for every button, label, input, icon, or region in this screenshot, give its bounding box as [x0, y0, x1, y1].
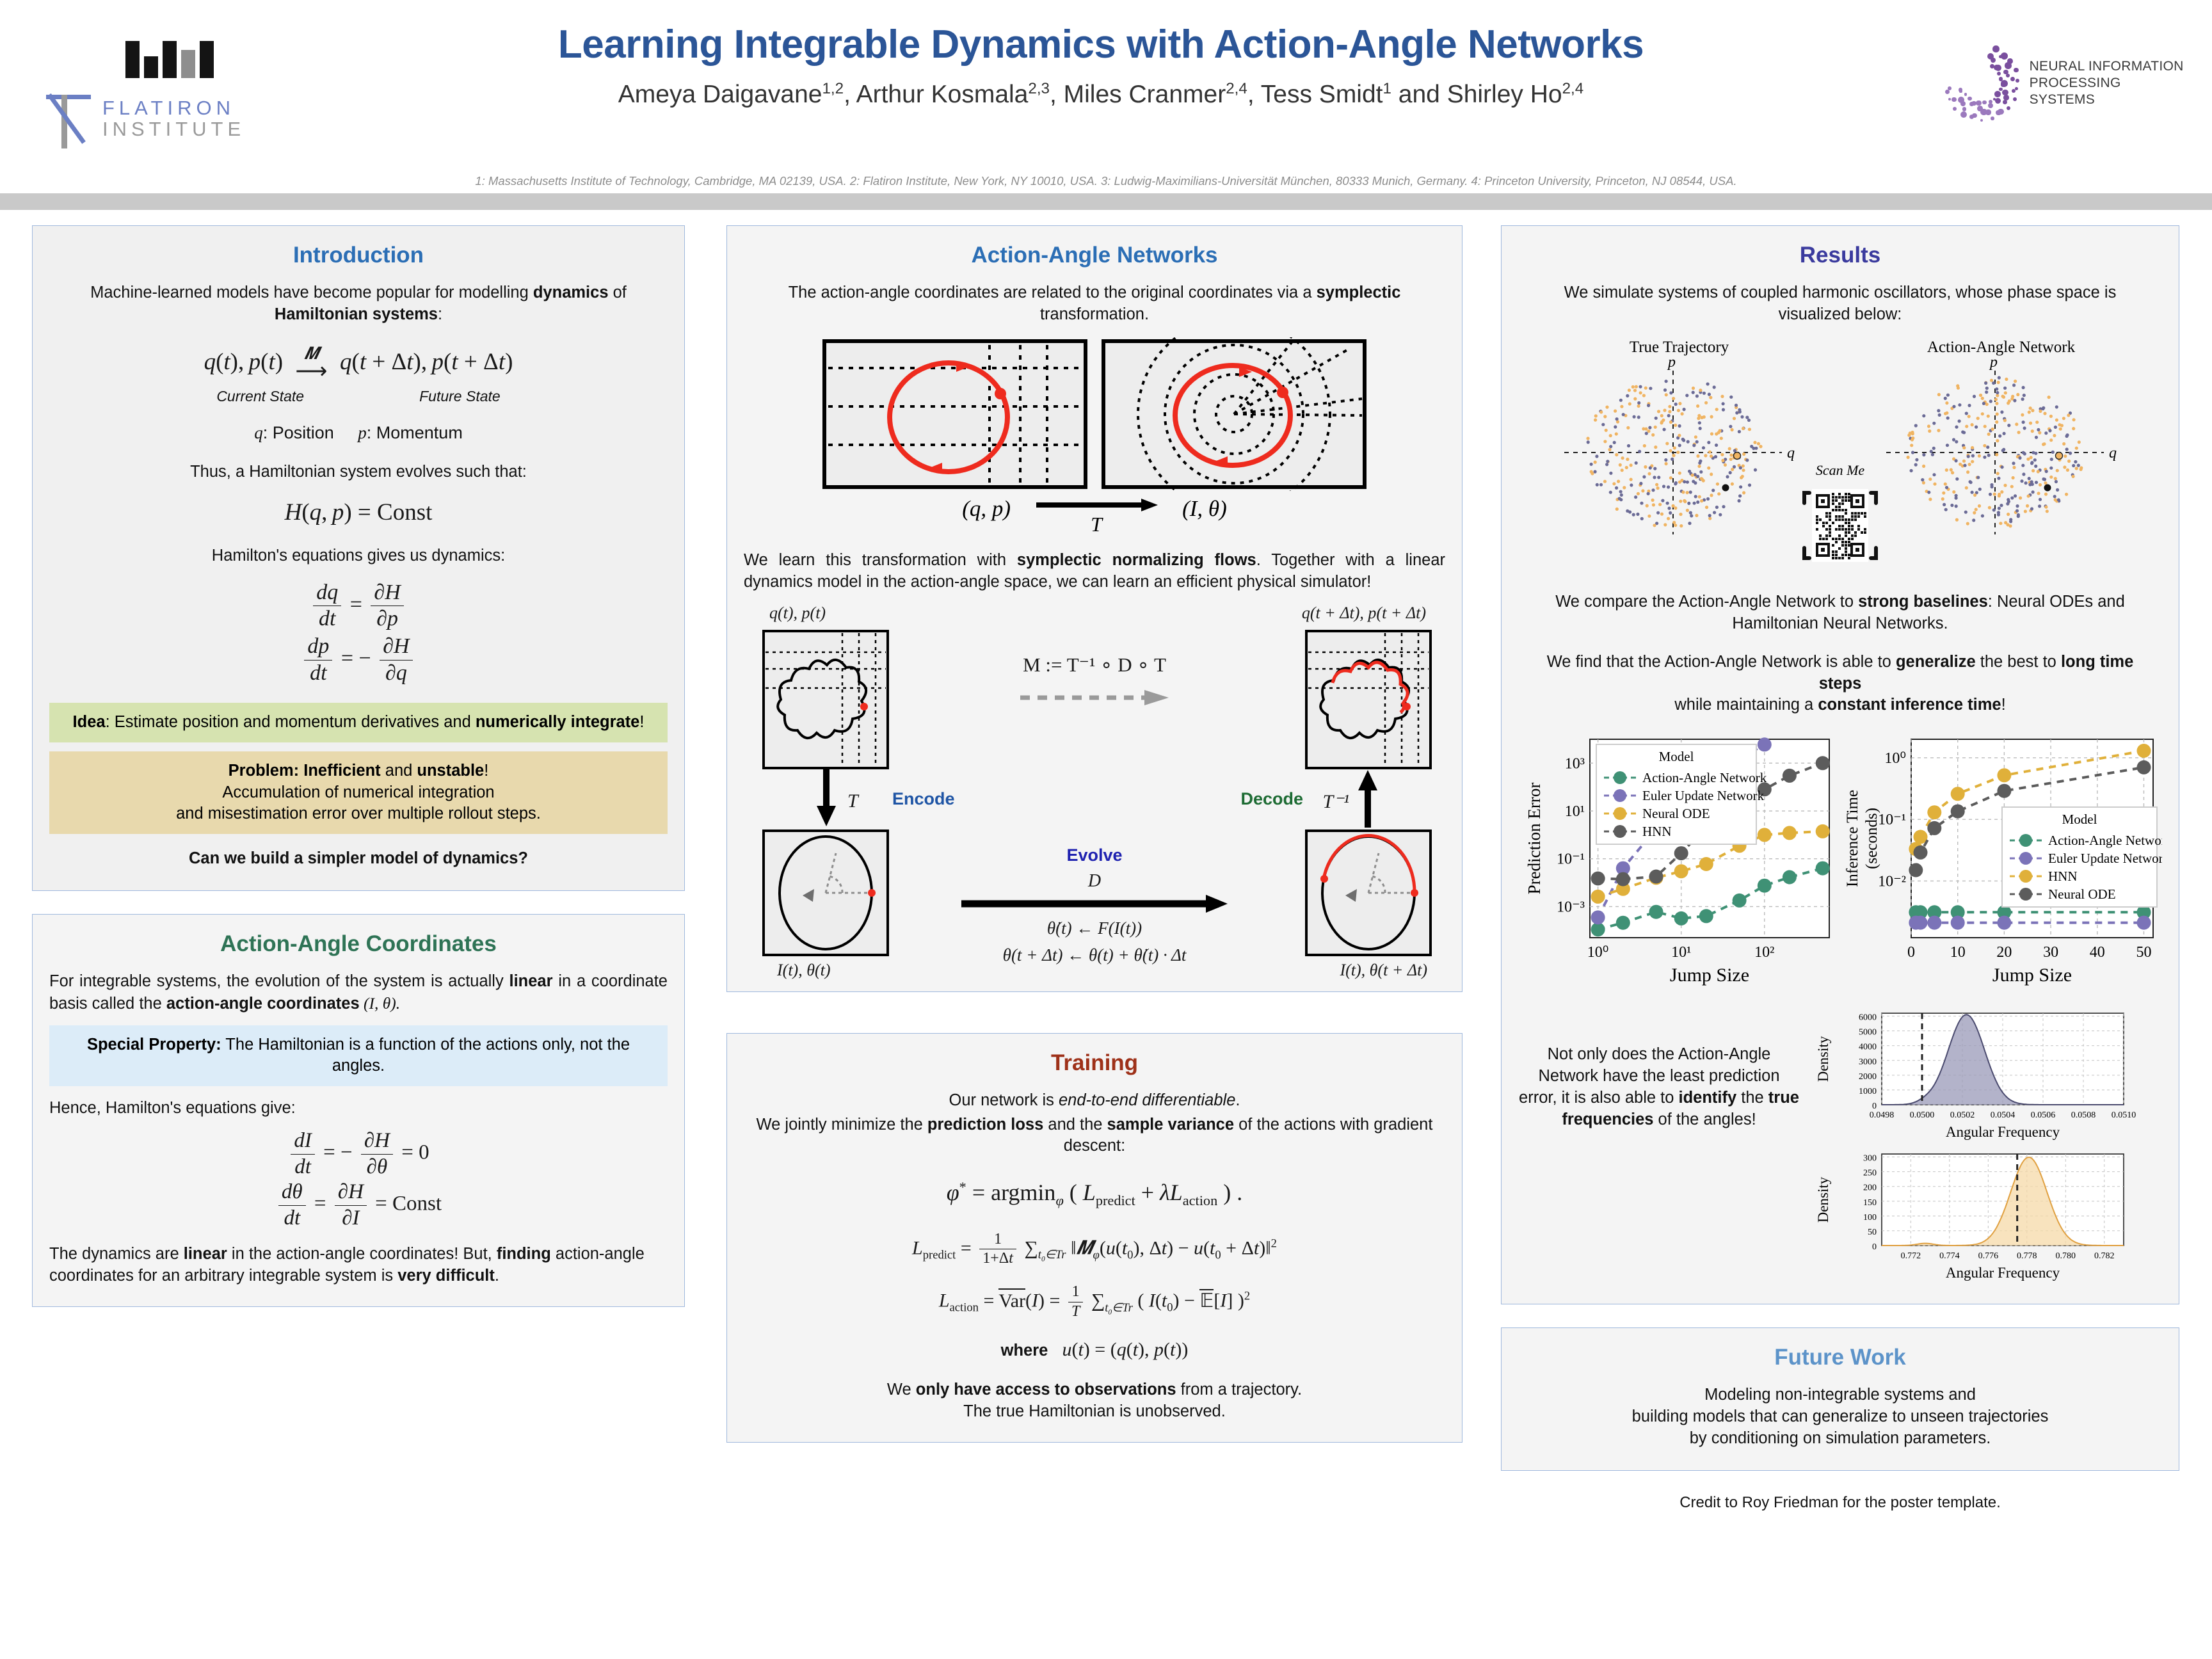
action-angle-panel — [1100, 337, 1368, 491]
svg-text:0.776: 0.776 — [1978, 1251, 1999, 1261]
equation-dI-dt: dIdt = − ∂H∂θ = 0 — [49, 1130, 668, 1178]
svg-text:p: p — [1667, 357, 1676, 371]
equation-objective: φ* = argminφ ( Lpredict + λLaction ) . — [744, 1179, 1445, 1209]
svg-text:10¹: 10¹ — [1565, 803, 1585, 820]
aan-p1-c: transformation. — [1040, 305, 1149, 323]
intro-p1-b: dynamics — [533, 284, 609, 301]
svg-text:5000: 5000 — [1859, 1028, 1877, 1038]
caption-I-theta: (I, θ) — [1182, 496, 1227, 522]
problem-end: ! — [484, 762, 488, 780]
results-p3-c: the best to — [1976, 653, 2061, 671]
header-divider-bar — [0, 193, 2212, 210]
qp-legend: q: Position p: Momentum — [49, 422, 668, 445]
diag-label-encode: Encode — [892, 789, 955, 809]
diag-dashed-arrow — [1018, 688, 1171, 707]
svg-text:0.780: 0.780 — [2056, 1251, 2076, 1261]
svg-text:30: 30 — [2043, 944, 2058, 961]
card-introduction: Introduction Machine-learned models have… — [32, 225, 685, 891]
diag-arrow-decode — [1354, 769, 1381, 828]
card-action-angle-coordinates: Action-Angle Coordinates For integrable … — [32, 914, 685, 1307]
aan-p2-a: We learn this transformation with — [744, 551, 1017, 569]
diag-panel-action-angle-after — [1304, 829, 1432, 957]
idea-label: Idea — [73, 713, 106, 731]
results-paragraph-2: We compare the Action-Angle Network to s… — [1518, 591, 2162, 635]
diag-op-Tinv: T⁻¹ — [1322, 790, 1349, 813]
svg-text:10⁰: 10⁰ — [1884, 750, 1906, 767]
diag-label-top-left: q(t), p(t) — [769, 604, 826, 623]
svg-text:Prediction Error: Prediction Error — [1525, 783, 1544, 895]
qr-code-icon[interactable] — [1802, 479, 1879, 572]
svg-text:300: 300 — [1863, 1154, 1877, 1164]
label-current-state: Current State — [216, 388, 304, 405]
card-results: Results We simulate systems of coupled h… — [1501, 225, 2179, 1304]
aac-p1-e: (I, θ). — [360, 994, 401, 1013]
diag-composition: M := T⁻¹ ∘ D ∘ T — [1023, 653, 1166, 677]
training-p2-b: prediction loss — [927, 1116, 1043, 1134]
equation-hamilton-dq: dqdt = ∂H∂p — [49, 581, 668, 631]
svg-text:100: 100 — [1863, 1213, 1877, 1222]
svg-text:Jump Size: Jump Size — [1992, 965, 2072, 986]
training-p1-c: . — [1235, 1091, 1240, 1109]
results-p3-a: We find that the Action-Angle Network is… — [1547, 653, 1896, 671]
chart-density-fast: 0.7720.7740.7760.7780.7800.7820501001502… — [1806, 1146, 2139, 1284]
svg-text:40: 40 — [2090, 944, 2105, 961]
aan-paragraph-2: We learn this transformation with symple… — [744, 550, 1445, 593]
svg-text:0.0500: 0.0500 — [1910, 1110, 1935, 1120]
affiliations: 1: Massachusetts Institute of Technology… — [0, 174, 2212, 188]
intro-p1-a: Machine-learned models have become popul… — [90, 284, 533, 301]
card-future-work: Future Work Modeling non-integrable syst… — [1501, 1327, 2179, 1471]
equation-loss-action: Laction = Var(I) = 1T ∑t0∈Tr ( I(t0) − 𝔼… — [744, 1284, 1445, 1320]
section-title-introduction: Introduction — [49, 243, 668, 268]
qr-scan-me-label: Scan Me — [1802, 462, 1879, 479]
training-p1-b: end-to-end differentiable — [1059, 1091, 1235, 1109]
training-p1-a: Our network is — [949, 1091, 1058, 1109]
aac-p3-d: finding — [497, 1245, 551, 1263]
section-title-results: Results — [1518, 243, 2162, 268]
svg-text:Jump Size: Jump Size — [1670, 965, 1749, 986]
flatiron-logo-icon: FLATIRON INSTITUTE — [45, 90, 256, 148]
diag-panel-qp-before — [762, 629, 890, 770]
aac-p1-a: For integrable systems, the evolution of… — [49, 972, 509, 990]
poster-header: FLATIRON INSTITUTE Learning Integrable D… — [0, 0, 2212, 192]
card-action-angle-networks: Action-Angle Networks The action-angle c… — [726, 225, 1463, 992]
flatiron-word-2: INSTITUTE — [102, 119, 245, 140]
results-p3-e: while maintaining a — [1674, 696, 1818, 714]
density-charts: 0.04980.05000.05020.05040.05060.05080.05… — [1806, 1006, 2162, 1287]
aac-p3-b: linear — [184, 1245, 227, 1263]
section-title-aa-networks: Action-Angle Networks — [744, 243, 1445, 268]
chart-density-slow: 0.04980.05000.05020.05040.05060.05080.05… — [1806, 1006, 2139, 1143]
svg-text:HNN: HNN — [2048, 869, 2078, 884]
section-title-training: Training — [744, 1050, 1445, 1076]
problem-bold2: unstable — [417, 762, 484, 780]
svg-text:HNN: HNN — [1642, 824, 1672, 839]
intro-p1-e: : — [438, 305, 442, 323]
diag-arrow-evolve — [960, 893, 1229, 915]
svg-text:0.0498: 0.0498 — [1870, 1110, 1895, 1120]
svg-text:2000: 2000 — [1859, 1072, 1877, 1082]
svg-text:150: 150 — [1863, 1198, 1877, 1208]
poster-credit: Credit to Roy Friedman for the poster te… — [1501, 1494, 2179, 1512]
problem-line3: and misestimation error over multiple ro… — [176, 805, 541, 822]
left-logos: FLATIRON INSTITUTE — [45, 38, 256, 148]
results-p4-e: of the angles! — [1653, 1110, 1756, 1128]
performance-charts: 10⁰10¹10²10⁻³10⁻¹10¹10³Jump SizePredicti… — [1518, 730, 2162, 986]
results-paragraph-3: We find that the Action-Angle Network is… — [1518, 652, 2162, 717]
svg-text:0.772: 0.772 — [1901, 1251, 1921, 1261]
phase-plot-true-title: True Trajectory — [1551, 339, 1807, 357]
svg-text:6000: 6000 — [1859, 1013, 1877, 1023]
aac-paragraph-3: The dynamics are linear in the action-an… — [49, 1244, 668, 1287]
training-p2-c: and the — [1043, 1116, 1107, 1134]
svg-text:Action-Angle Network: Action-Angle Network — [2048, 833, 2162, 848]
aac-paragraph-1: For integrable systems, the evolution of… — [49, 971, 668, 1015]
svg-text:Neural ODE: Neural ODE — [1642, 806, 1710, 821]
state-labels: Current State Future State — [49, 388, 668, 405]
aac-p3-g: . — [495, 1267, 499, 1285]
aan-p2-b: symplectic normalizing flows — [1017, 551, 1256, 569]
diag-panel-qp-after — [1304, 629, 1432, 770]
diag-label-top-right: q(t + Δt), p(t + Δt) — [1302, 604, 1426, 623]
diag-label-evolve: Evolve — [1066, 846, 1122, 865]
svg-text:0: 0 — [1872, 1242, 1877, 1252]
svg-text:200: 200 — [1863, 1183, 1877, 1193]
training-closing-b: only have access to observations — [916, 1381, 1176, 1399]
card-training: Training Our network is end-to-end diffe… — [726, 1033, 1463, 1443]
section-title-future-work: Future Work — [1518, 1345, 2162, 1370]
label-future-state: Future State — [419, 388, 501, 405]
svg-text:3000: 3000 — [1859, 1057, 1877, 1067]
training-paragraph-2: We jointly minimize the prediction loss … — [744, 1114, 1445, 1158]
diag-panel-action-angle-before — [762, 829, 890, 957]
svg-text:1000: 1000 — [1859, 1087, 1877, 1096]
aac-p3-c: in the action-angle coordinates! But, — [227, 1245, 497, 1263]
future-work-text: Modeling non-integrable systems and buil… — [1518, 1384, 2162, 1450]
future-work-line2: building models that can generalize to u… — [1632, 1407, 2049, 1425]
equation-map: q(t), p(t) 𝑴 ⟶ q(t + Δt), p(t + Δt) — [49, 344, 668, 384]
idea-end: ! — [639, 713, 644, 731]
svg-text:Inference Time: Inference Time — [1844, 790, 1861, 887]
aan-paragraph-1: The action-angle coordinates are related… — [744, 282, 1445, 326]
aac-p3-f: very difficult — [397, 1267, 495, 1285]
problem-mid: and — [381, 762, 417, 780]
idea-bold: numerically integrate — [476, 713, 640, 731]
svg-text:Euler Update Network: Euler Update Network — [2048, 851, 2162, 866]
results-p3-g: ! — [2001, 696, 2006, 714]
transform-arrow: T — [1032, 496, 1160, 521]
diag-label-bottom-right: I(t), θ(t + Δt) — [1340, 961, 1427, 980]
svg-text:50: 50 — [2136, 944, 2151, 961]
intro-paragraph-1: Machine-learned models have become popul… — [49, 282, 668, 326]
svg-text:20: 20 — [1996, 944, 2012, 961]
results-p4-c: the — [1736, 1089, 1768, 1107]
equation-dtheta-dt: dθdt = ∂H∂I = Const — [49, 1181, 668, 1230]
svg-text:0.0502: 0.0502 — [1950, 1110, 1975, 1120]
neurips-swirl-icon — [1937, 35, 2024, 131]
frequency-identification-block: Not only does the Action-Angle Network h… — [1518, 1006, 2162, 1287]
diag-op-T: T — [847, 790, 858, 812]
svg-text:Angular Frequency: Angular Frequency — [1946, 1124, 2060, 1140]
svg-text:Action-Angle Network: Action-Angle Network — [1642, 770, 1767, 785]
svg-text:10: 10 — [1950, 944, 1966, 961]
svg-text:Density: Density — [1815, 1177, 1831, 1223]
svg-text:0: 0 — [1907, 944, 1915, 961]
qp-phase-panel — [821, 337, 1089, 491]
svg-text:10⁻¹: 10⁻¹ — [1557, 851, 1585, 868]
neurips-line-1: NEURAL INFORMATION — [2030, 58, 2186, 75]
training-paragraph-1: Our network is end-to-end differentiable… — [744, 1090, 1445, 1112]
flatiron-word-1: FLATIRON — [102, 98, 245, 119]
qr-block[interactable]: Scan Me — [1518, 462, 2162, 575]
neurips-wordmark: NEURAL INFORMATION PROCESSING SYSTEMS — [2030, 58, 2186, 109]
svg-text:0.782: 0.782 — [2094, 1251, 2115, 1261]
training-closing-c: from a trajectory. — [1176, 1381, 1302, 1399]
section-title-aa-coords: Action-Angle Coordinates — [49, 931, 668, 957]
svg-text:0.778: 0.778 — [2017, 1251, 2037, 1261]
encode-evolve-decode-diagram: q(t), p(t) q(t + Δt), p(t + Δt) — [744, 604, 1445, 975]
results-p2-b: strong baselines — [1858, 593, 1988, 611]
svg-text:(seconds): (seconds) — [1863, 808, 1880, 869]
svg-text:Euler Update Network: Euler Update Network — [1642, 788, 1765, 803]
intro-paragraph-3: Hamilton's equations gives us dynamics: — [49, 545, 668, 567]
results-p3-b: generalize — [1896, 653, 1976, 671]
training-closing-a: We — [887, 1381, 916, 1399]
svg-text:0.0510: 0.0510 — [2112, 1110, 2136, 1120]
aac-paragraph-2: Hence, Hamilton's equations give: — [49, 1098, 668, 1119]
column-left: Introduction Machine-learned models have… — [32, 225, 685, 1330]
problem-label: Problem: Inefficient — [228, 762, 381, 780]
svg-text:Angular Frequency: Angular Frequency — [1946, 1265, 2060, 1281]
svg-text:Model: Model — [1659, 749, 1694, 764]
svg-text:0: 0 — [1872, 1102, 1877, 1111]
svg-text:Density: Density — [1815, 1036, 1831, 1082]
svg-text:10²: 10² — [1754, 944, 1774, 961]
svg-text:0.774: 0.774 — [1939, 1251, 1960, 1261]
svg-text:p: p — [1989, 357, 1998, 371]
diag-eq-theta-dot: θ̇(t) ← F(I(t)) — [1047, 918, 1142, 938]
phase-plot-network-title: Action-Angle Network — [1873, 339, 2129, 357]
intro-closing-question: Can we build a simpler model of dynamics… — [49, 848, 668, 870]
symplectic-transform-caption: (q, p) T (I, θ) — [744, 496, 1445, 522]
svg-text:10¹: 10¹ — [1671, 944, 1691, 961]
svg-text:0.0506: 0.0506 — [2031, 1110, 2056, 1120]
svg-text:10³: 10³ — [1565, 756, 1585, 773]
caption-qp: (q, p) — [962, 496, 1011, 522]
author-list: Ameya Daigavane1,2, Arthur Kosmala2,3, M… — [275, 79, 1927, 110]
aac-p1-b: linear — [509, 972, 553, 990]
symplectic-transform-figure — [744, 337, 1445, 491]
where-label: where — [1001, 1342, 1048, 1359]
svg-text:10⁻¹: 10⁻¹ — [1878, 812, 1906, 829]
results-paragraph-1: We simulate systems of coupled harmonic … — [1518, 282, 2162, 326]
future-work-line1: Modeling non-integrable systems and — [1704, 1386, 1976, 1404]
caption-transform-T: T — [1091, 513, 1102, 536]
intro-paragraph-2: Thus, a Hamiltonian system evolves such … — [49, 461, 668, 483]
results-paragraph-4: Not only does the Action-Angle Network h… — [1518, 1006, 1806, 1277]
idea-callout: Idea: Estimate position and momentum der… — [49, 703, 668, 742]
svg-text:0.0504: 0.0504 — [1991, 1110, 2016, 1120]
chart-prediction-error: 10⁰10¹10²10⁻³10⁻¹10¹10³Jump SizePredicti… — [1518, 730, 1838, 986]
poster-root: FLATIRON INSTITUTE Learning Integrable D… — [0, 0, 2212, 1659]
svg-text:10⁻³: 10⁻³ — [1557, 899, 1585, 916]
equation-hamilton-dp: dpdt = − ∂H∂q — [49, 635, 668, 685]
diag-label-decode: Decode — [1240, 789, 1303, 809]
results-p4-b: identify — [1678, 1089, 1736, 1107]
svg-text:q: q — [1787, 445, 1795, 461]
svg-text:4000: 4000 — [1859, 1043, 1877, 1052]
intro-closing-text: Can we build a simpler model of dynamics… — [189, 849, 528, 867]
problem-line2: Accumulation of numerical integration — [222, 783, 494, 801]
intro-p1-c: of — [609, 284, 627, 301]
equation-hamiltonian-const: H(q, p) = Const — [49, 499, 668, 526]
equation-where-u: where u(t) = (q(t), p(t)) — [744, 1337, 1445, 1363]
column-right: Results We simulate systems of coupled h… — [1501, 225, 2179, 1512]
column-middle: Action-Angle Networks The action-angle c… — [726, 225, 1463, 1466]
aac-p1-d: action-angle coordinates — [166, 995, 360, 1013]
training-p2-d: sample variance — [1107, 1116, 1234, 1134]
intro-p1-d: Hamiltonian systems — [275, 305, 438, 323]
equation-loss-predict: Lpredict = 11+Δt ∑t0∈Tr ‖𝑴φ(u(t0), Δt) −… — [744, 1231, 1445, 1268]
diag-op-D: D — [1088, 871, 1101, 892]
chart-inference-time: 0102030405010⁻²10⁻¹10⁰Jump SizeInference… — [1842, 730, 2162, 986]
svg-text:10⁰: 10⁰ — [1587, 944, 1609, 961]
results-p3-f: constant inference time — [1818, 696, 2001, 714]
svg-text:q: q — [2109, 445, 2117, 461]
special-property-label: Special Property: — [87, 1036, 221, 1054]
idea-text: : Estimate position and momentum derivat… — [106, 713, 476, 731]
future-work-line3: by conditioning on simulation parameters… — [1690, 1429, 1991, 1447]
special-property-callout: Special Property: The Hamiltonian is a f… — [49, 1025, 668, 1086]
page-title: Learning Integrable Dynamics with Action… — [275, 23, 1927, 67]
title-block: Learning Integrable Dynamics with Action… — [275, 23, 1927, 110]
diag-label-bottom-left: I(t), θ(t) — [777, 961, 831, 980]
svg-text:50: 50 — [1868, 1228, 1877, 1237]
results-p2-a: We compare the Action-Angle Network to — [1555, 593, 1858, 611]
training-closing-line2: The true Hamiltonian is unobserved. — [963, 1402, 1226, 1420]
training-p2-a: We jointly minimize the — [757, 1116, 927, 1134]
diag-eq-theta-step: θ(t + Δt) ← θ(t) + θ̇(t) · Δt — [1003, 945, 1187, 965]
aan-p1-a: The action-angle coordinates are related… — [789, 284, 1317, 301]
training-closing: We only have access to observations from… — [744, 1379, 1445, 1423]
mit-logo-icon — [83, 38, 256, 78]
svg-text:Neural ODE: Neural ODE — [2048, 886, 2116, 902]
neurips-logo: NEURAL INFORMATION PROCESSING SYSTEMS — [1937, 35, 2186, 131]
svg-text:0.0508: 0.0508 — [2071, 1110, 2096, 1120]
svg-text:Model: Model — [2062, 812, 2097, 827]
svg-text:10⁻²: 10⁻² — [1878, 874, 1906, 890]
problem-callout: Problem: Inefficient and unstable! Accum… — [49, 751, 668, 834]
special-property-text: The Hamiltonian is a function of the act… — [221, 1036, 630, 1075]
aac-p3-a: The dynamics are — [49, 1245, 184, 1263]
diag-arrow-encode — [813, 769, 840, 828]
neurips-line-2: PROCESSING SYSTEMS — [2030, 75, 2186, 109]
aan-p1-b: symplectic — [1317, 284, 1401, 301]
svg-text:250: 250 — [1863, 1169, 1877, 1178]
